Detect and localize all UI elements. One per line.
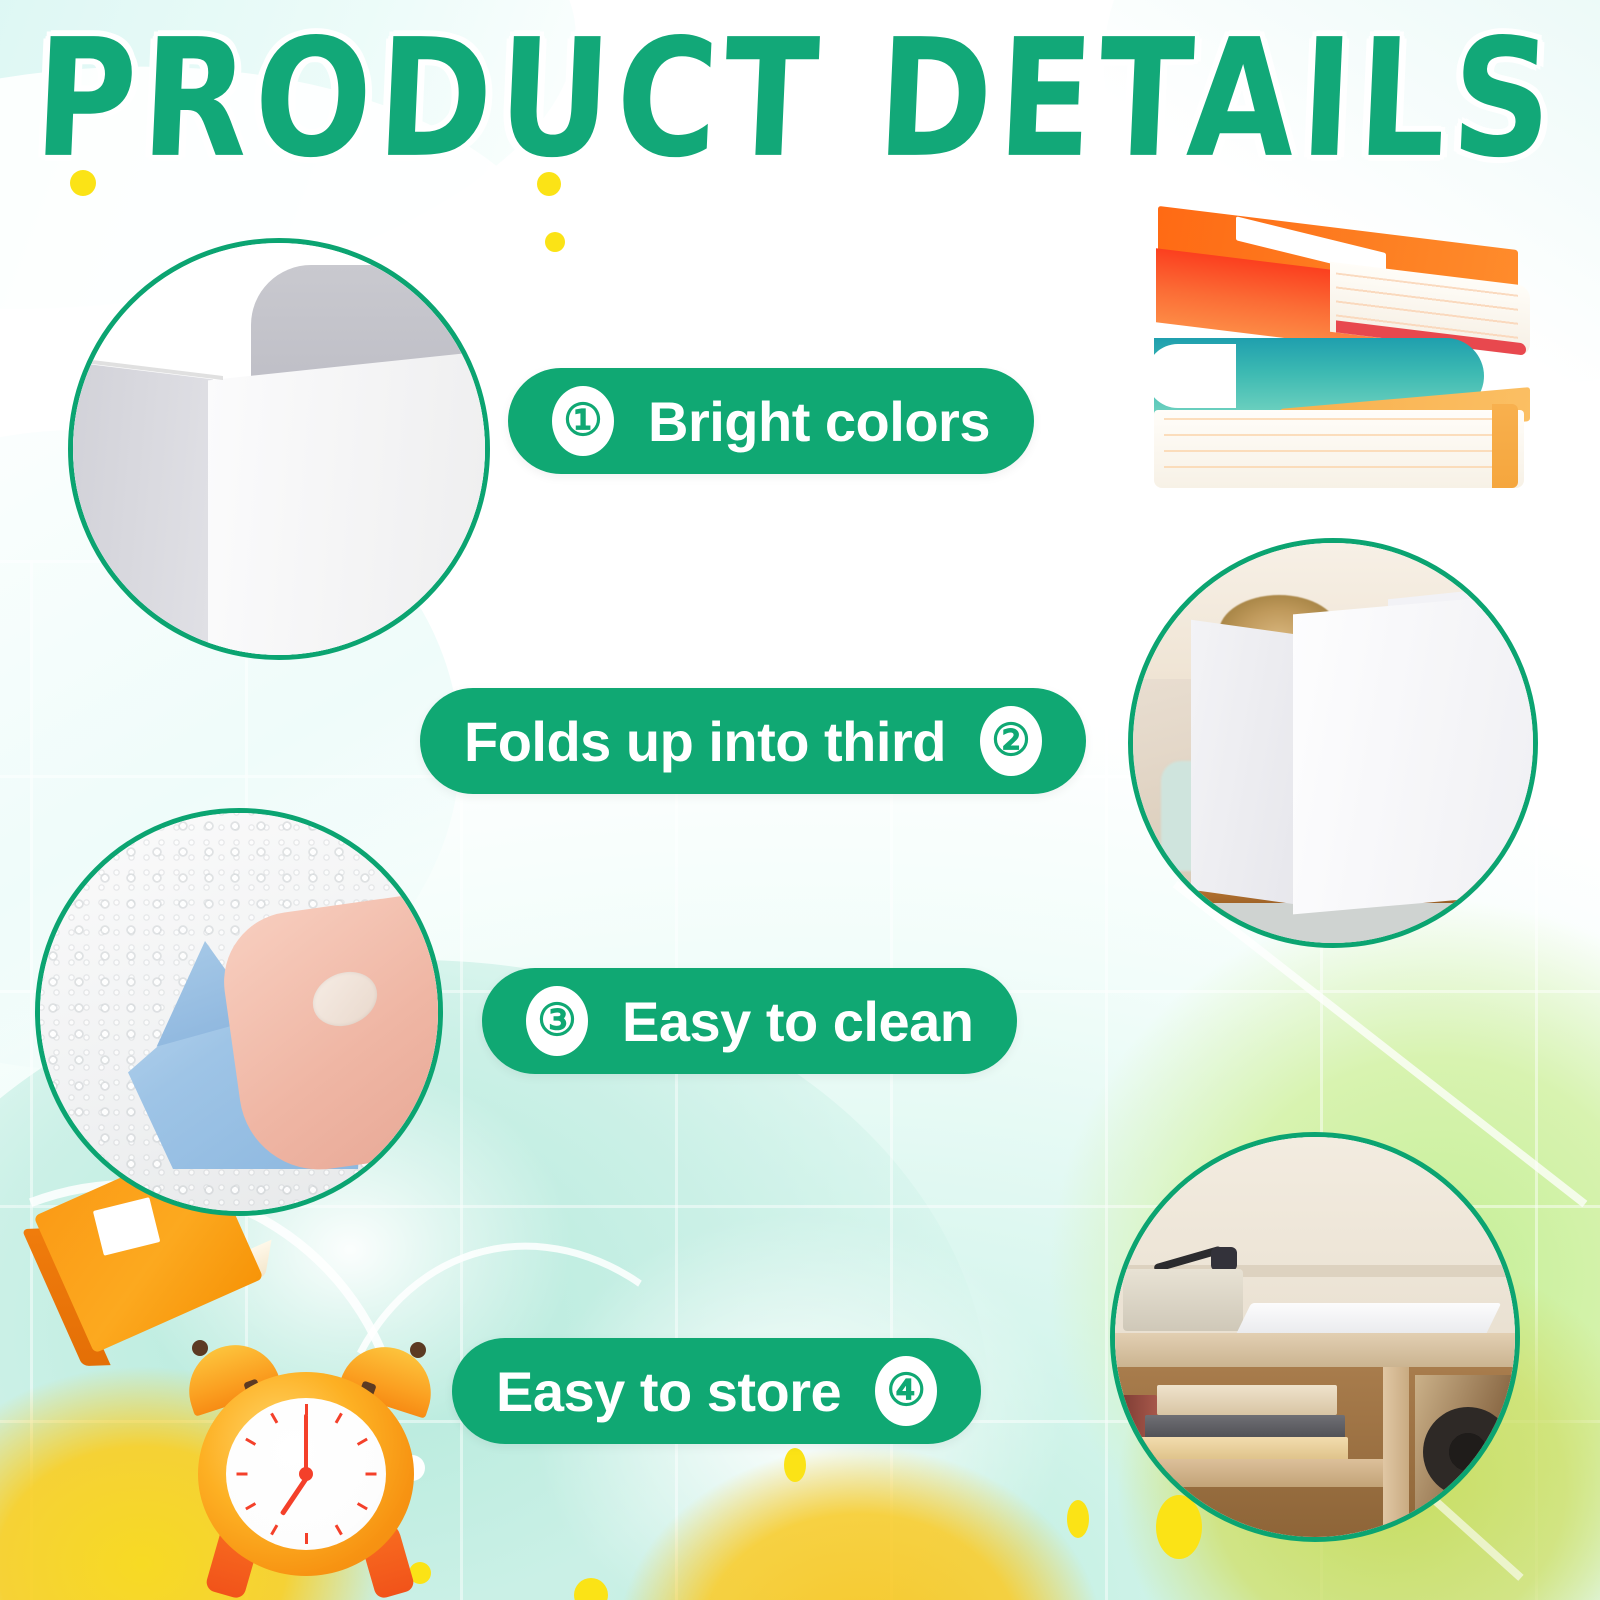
confetti-dot [545, 232, 565, 252]
feature-number-badge-1: ① [552, 386, 614, 456]
feature-pill-1[interactable]: ① Bright colors [508, 368, 1034, 474]
clock-face [226, 1398, 386, 1550]
photo-folded-board-stored-on-wooden-shelf [1110, 1132, 1520, 1542]
photo-hand-wiping-white-surface-with-blue-cloth [35, 808, 443, 1216]
feature-label-4: Easy to store [496, 1359, 841, 1424]
photo-child-behind-white-privacy-board-on-desk [1128, 538, 1538, 948]
feature-number-badge-3: ③ [526, 986, 588, 1056]
feature-pill-4[interactable]: Easy to store ④ [452, 1338, 981, 1444]
confetti-dot [784, 1448, 806, 1482]
feature-label-2: Folds up into third [464, 709, 946, 774]
product-details-poster: PRODUCT DETAILS [0, 0, 1600, 1600]
photo-white-folded-board-corner-closeup [68, 238, 490, 660]
confetti-dot [1067, 1500, 1089, 1538]
feature-number-badge-4: ④ [875, 1356, 937, 1426]
book-stack-illustration [1140, 220, 1600, 490]
feature-pill-2[interactable]: Folds up into third ② [420, 688, 1086, 794]
feature-label-1: Bright colors [648, 389, 990, 454]
feature-number-badge-2: ② [980, 706, 1042, 776]
page-title: PRODUCT DETAILS [0, 18, 1600, 181]
alarm-clock-illustration [178, 1318, 438, 1598]
feature-pill-3[interactable]: ③ Easy to clean [482, 968, 1017, 1074]
feature-label-3: Easy to clean [622, 989, 973, 1054]
